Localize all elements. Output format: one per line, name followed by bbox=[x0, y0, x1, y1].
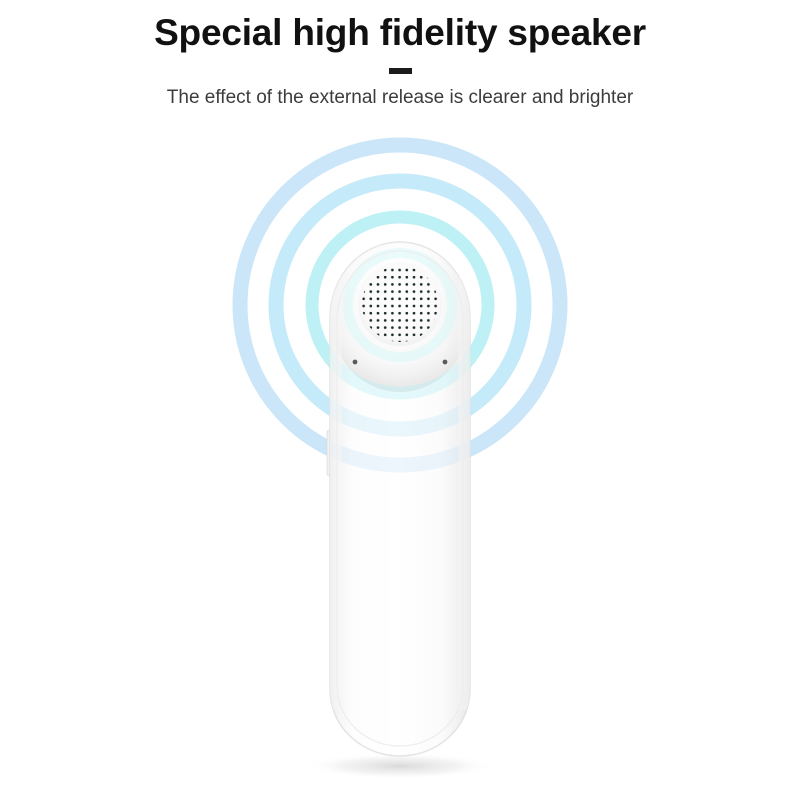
speaker-grille bbox=[358, 262, 442, 346]
grille-perforations bbox=[362, 266, 438, 342]
product-shadow bbox=[305, 753, 495, 779]
indicator-dot-left bbox=[353, 360, 358, 365]
product-stage bbox=[0, 0, 800, 800]
promo-page: Special high fidelity speaker The effect… bbox=[0, 0, 800, 800]
indicator-dot-right bbox=[443, 360, 448, 365]
product-illustration bbox=[0, 0, 800, 800]
